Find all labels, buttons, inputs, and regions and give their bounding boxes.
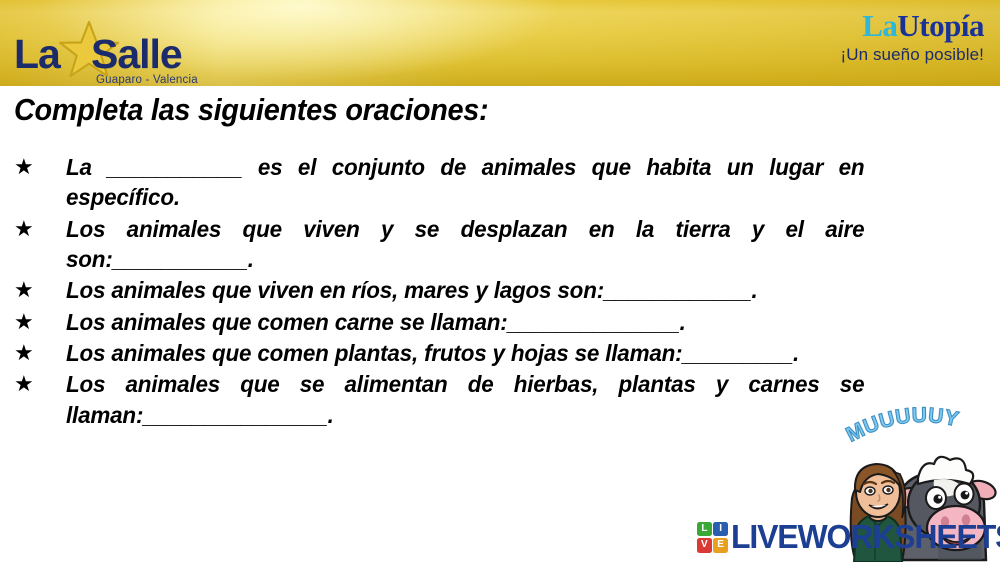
logo-tile-e: E xyxy=(713,538,728,553)
bullet-star-icon: ★ xyxy=(14,309,34,335)
list-item: ★ La ___________ es el conjunto de anima… xyxy=(0,152,1000,213)
la-salle-subtitle: Guaparo - Valencia xyxy=(96,74,198,86)
question-list: ★ La ___________ es el conjunto de anima… xyxy=(0,152,1000,431)
question-text: Los animales que viven y se desplazan en… xyxy=(66,214,864,275)
la-salle-word-la: La xyxy=(14,34,60,75)
la-utopia-logo: LaUtopía ¡Un sueño posible! xyxy=(784,10,984,76)
list-item: ★ Los animales que viven y se desplazan … xyxy=(0,214,1000,275)
liveworksheets-watermark: L I V E LIVEWORKSHEETS xyxy=(697,515,1000,559)
la-salle-word-salle: Salle xyxy=(91,34,182,75)
question-text: Los animales que se alimentan de hierbas… xyxy=(66,369,864,430)
logo-tile-l: L xyxy=(697,522,712,537)
question-text: Los animales que comen plantas, frutos y… xyxy=(66,338,947,368)
liveworksheets-logo-icon: L I V E xyxy=(697,522,728,553)
bullet-star-icon: ★ xyxy=(14,154,34,180)
la-utopia-title: LaUtopía xyxy=(784,10,984,43)
list-item: ★ Los animales que comen plantas, frutos… xyxy=(0,338,1000,368)
la-utopia-name-la: La xyxy=(862,8,897,43)
worksheet-page: La Salle Guaparo - Valencia LaUtopía ¡Un… xyxy=(0,0,1000,562)
page-title: Completa las siguientes oraciones: xyxy=(14,92,488,128)
bullet-star-icon: ★ xyxy=(14,216,34,242)
question-text: La ___________ es el conjunto de animale… xyxy=(66,152,864,213)
logo-tile-i: I xyxy=(713,522,728,537)
la-utopia-name-utopia: Utopía xyxy=(897,8,984,43)
question-text: Los animales que viven en ríos, mares y … xyxy=(66,275,947,305)
la-utopia-tagline: ¡Un sueño posible! xyxy=(784,45,984,65)
bullet-star-icon: ★ xyxy=(14,371,34,397)
la-salle-logo: La Salle Guaparo - Valencia xyxy=(12,18,212,82)
header-band: La Salle Guaparo - Valencia LaUtopía ¡Un… xyxy=(0,0,1000,86)
question-text: Los animales que comen carne se llaman:_… xyxy=(66,307,947,337)
bullet-star-icon: ★ xyxy=(14,340,34,366)
liveworksheets-brand-text: LIVEWORKSHEETS xyxy=(731,518,1000,556)
bullet-star-icon: ★ xyxy=(14,277,34,303)
list-item: ★ Los animales que viven en ríos, mares … xyxy=(0,275,1000,305)
logo-tile-v: V xyxy=(697,538,712,553)
list-item: ★ Los animales que comen carne se llaman… xyxy=(0,307,1000,337)
